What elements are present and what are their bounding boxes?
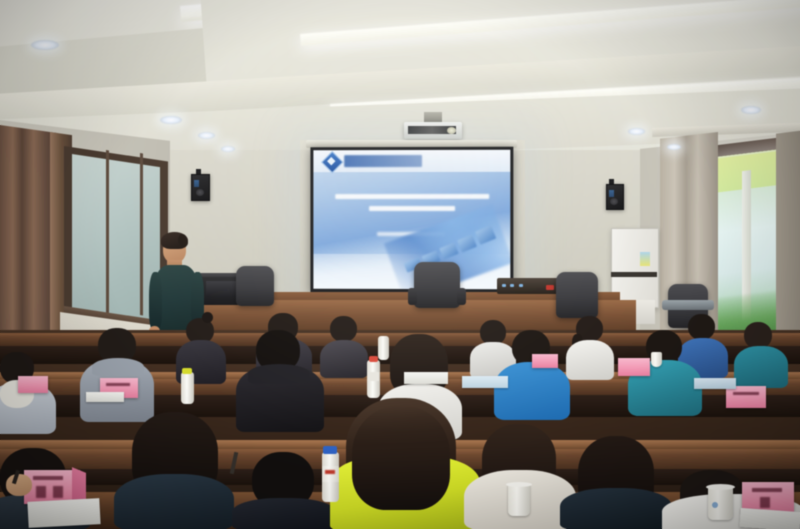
presenter-arm-left [149, 272, 162, 330]
projector-lens [447, 127, 456, 134]
name-placard [726, 386, 766, 408]
chair-towel [662, 300, 714, 310]
cabinet-label [640, 252, 650, 266]
placard-title-text [733, 392, 759, 395]
paper-cup-rim [706, 484, 735, 490]
attendee-torso [320, 340, 368, 378]
console-indicator [510, 284, 514, 287]
placard-name-text [36, 486, 46, 498]
bottle-label [368, 372, 379, 381]
frosted-window-left-glass [72, 154, 160, 327]
attendee-hair [744, 322, 772, 349]
bottle-label-text [325, 470, 335, 474]
executive-chair-left [236, 266, 274, 306]
paper-cup [508, 484, 530, 516]
attendee-torso [734, 346, 788, 388]
attendee-torso [494, 362, 570, 420]
placard-name-text [760, 497, 770, 508]
chair-arm [457, 288, 466, 305]
attendee-hood [248, 364, 310, 384]
attendee-hair-bun [202, 312, 213, 323]
handout [694, 378, 736, 389]
attendee-hair [688, 314, 715, 340]
attendee-hand [6, 474, 32, 496]
handout [462, 376, 508, 388]
ceiling-downlight [160, 116, 182, 124]
handout [404, 372, 448, 384]
paper-cup-rim [506, 482, 532, 487]
name-placard [18, 376, 48, 393]
placard-name-text [53, 486, 63, 498]
curtain-right-panel [776, 130, 800, 362]
speaker-cone-left [196, 189, 204, 196]
attendee-torso [560, 488, 672, 529]
placard-title-text [106, 383, 130, 386]
ceiling-downlight [221, 146, 235, 152]
handout [27, 498, 100, 528]
conference-room-photo [0, 0, 800, 529]
paper-cup-print [712, 502, 718, 508]
slide-headline-line-2 [369, 206, 455, 211]
ceiling-downlight [198, 132, 215, 139]
console-indicator-red [546, 285, 554, 290]
slide-headline-line-1 [335, 194, 489, 199]
wall-speaker-left [191, 174, 210, 201]
attendee-torso [566, 340, 614, 380]
window-mullion [106, 150, 109, 316]
attendee-hair [330, 316, 357, 342]
chair-arm [408, 288, 417, 305]
bottle-label [322, 466, 339, 482]
company-wordmark [344, 155, 422, 167]
thermos [378, 336, 389, 360]
handout [739, 508, 800, 529]
name-placard [532, 354, 558, 368]
bottle-cap [369, 356, 378, 362]
attendee-torso [114, 474, 234, 529]
placard-title-text [33, 476, 63, 480]
placard-title-text [752, 488, 782, 492]
name-placard [618, 358, 650, 376]
projection-screen [310, 147, 513, 294]
cabinet-divider [611, 272, 657, 277]
console-indicator [502, 284, 506, 287]
ceiling-downlight [31, 40, 59, 50]
executive-chair-center [414, 262, 460, 308]
paper-cup [651, 352, 662, 367]
speaker-cone-right [610, 198, 618, 205]
attendee-torso [232, 498, 336, 529]
wall-speaker-right [606, 184, 624, 210]
bottle-cap [323, 446, 337, 454]
ceiling-downlight [628, 128, 645, 135]
attendee-hood [92, 358, 144, 376]
executive-chair-right [556, 272, 598, 318]
window-mullion [140, 153, 143, 315]
water-bottle [181, 372, 194, 404]
console-indicator [519, 284, 523, 287]
ceiling-downlight [667, 144, 681, 150]
speaker-led-left [194, 180, 199, 187]
bottle-cap [182, 368, 192, 374]
speaker-led-right [609, 190, 614, 197]
ceiling-downlight [741, 106, 761, 114]
presenter-hair-bun [178, 234, 187, 246]
handout [86, 392, 124, 402]
projected-slide [313, 150, 510, 290]
attendee-hair-front [352, 406, 450, 510]
